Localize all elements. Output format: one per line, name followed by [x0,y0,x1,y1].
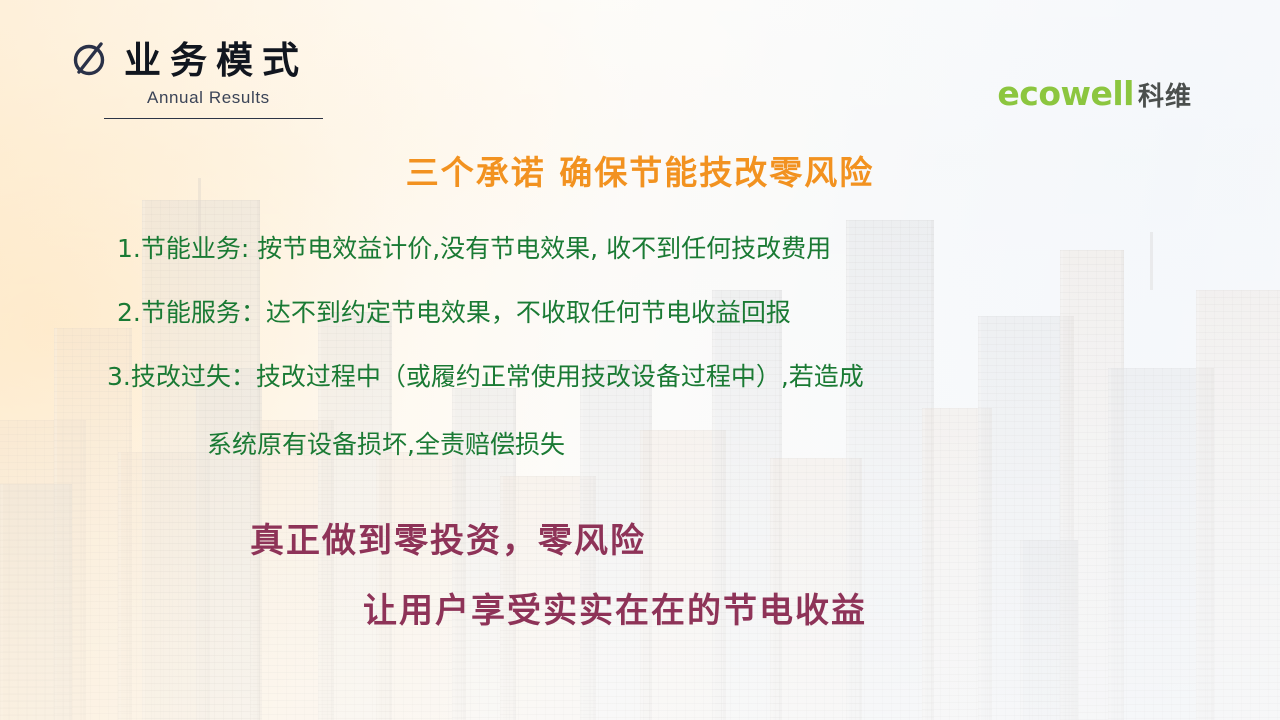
promise-item-2: 2.节能服务：达不到约定节电效果，不收取任何节电收益回报 [117,300,791,325]
promise-item-3: 3.技改过失：技改过程中（或履约正常使用技改设备过程中）,若造成 [107,364,864,389]
brand-logo: ecowell 科维 [997,74,1192,113]
presentation-slide: 业务模式 Annual Results ecowell 科维 三个承诺 确保节能… [0,0,1280,720]
promise-item-3-continued: 系统原有设备损坏,全责赔偿损失 [207,432,565,457]
page-title: 业务模式 [124,30,308,84]
null-slash-icon [70,38,112,80]
promise-item-1: 1.节能业务: 按节电效益计价,没有节电效果, 收不到任何技改费用 [117,236,831,261]
section-headline: 三个承诺 确保节能技改零风险 [0,146,1280,194]
closing-line-2: 让用户享受实实在在的节电收益 [363,594,867,628]
brand-name-en: ecowell [997,74,1134,113]
page-subtitle: Annual Results [147,88,270,108]
title-divider [104,118,323,119]
slide-header: 业务模式 Annual Results ecowell 科维 [0,0,1280,140]
brand-name-cn: 科维 [1138,76,1192,113]
closing-line-1: 真正做到零投资，零风险 [250,524,646,558]
